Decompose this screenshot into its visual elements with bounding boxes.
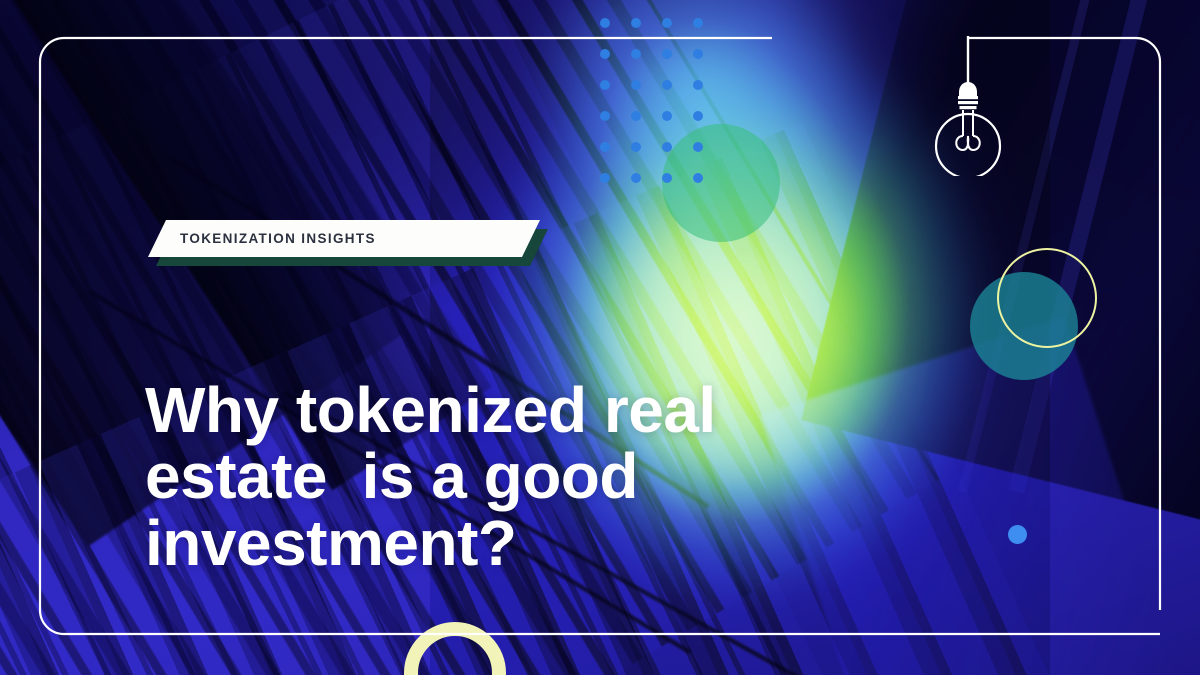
grid-dot [693, 49, 703, 59]
grid-dot [600, 49, 610, 59]
grid-dot [600, 142, 610, 152]
grid-dot [662, 173, 672, 183]
grid-dot [631, 111, 641, 121]
grid-dot [693, 142, 703, 152]
grid-dot [600, 111, 610, 121]
grid-dot [693, 18, 703, 28]
grid-dot [693, 80, 703, 90]
page-title: Why tokenized real estate is a good inve… [145, 377, 885, 577]
grid-dot [631, 80, 641, 90]
grid-dot [631, 142, 641, 152]
grid-dot [662, 18, 672, 28]
grid-dot [631, 18, 641, 28]
grid-dot [631, 173, 641, 183]
dot-grid-pattern [600, 18, 724, 204]
category-badge[interactable]: TOKENIZATION INSIGHTS [148, 220, 548, 268]
lightbulb-icon [930, 36, 1020, 176]
grid-dot [662, 49, 672, 59]
grid-dot [662, 142, 672, 152]
yellow-ring-shape [997, 248, 1097, 348]
grid-dot [600, 173, 610, 183]
grid-dot [693, 111, 703, 121]
blue-dot-shape [1008, 525, 1027, 544]
badge-face: TOKENIZATION INSIGHTS [148, 220, 540, 257]
grid-dot [631, 49, 641, 59]
grid-dot [662, 111, 672, 121]
grid-dot [662, 80, 672, 90]
badge-label: TOKENIZATION INSIGHTS [180, 231, 376, 246]
grid-dot [693, 173, 703, 183]
banner-canvas: TOKENIZATION INSIGHTS Why tokenized real… [0, 0, 1200, 675]
grid-dot [600, 18, 610, 28]
grid-dot [600, 80, 610, 90]
